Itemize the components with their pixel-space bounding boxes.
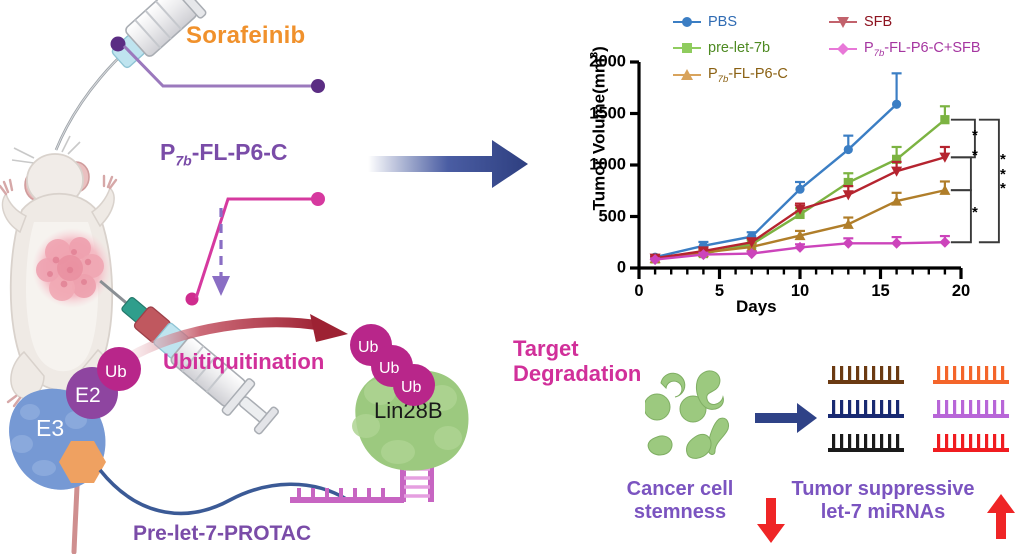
cancer-stemness-line2: stemness	[605, 501, 755, 524]
y-tick-label: 2000	[589, 53, 626, 72]
x-tick-label: 5	[715, 282, 724, 301]
label-pre-let-7-protac: Pre-let-7-PROTAC	[133, 522, 311, 546]
protac-linker	[100, 470, 348, 513]
label-ubiquitination: Ubitiquitination	[163, 349, 324, 375]
x-tick-label: 15	[871, 282, 889, 301]
tumor-suppressive-line2: let-7 miRNAs	[778, 501, 988, 524]
tumor-suppressive-line1: Tumor suppressive	[778, 478, 988, 501]
e3-label: E3	[36, 415, 64, 441]
strand-violet	[933, 400, 1009, 418]
e2-label: E2	[75, 384, 101, 407]
y-tick-label: 1500	[589, 104, 626, 123]
sig-bracket	[951, 157, 971, 190]
degradation-products	[645, 355, 825, 465]
label-target-degradation: Target Degradation	[513, 337, 641, 386]
y-tick-label: 0	[617, 259, 626, 278]
data-point	[843, 219, 854, 229]
dot-sorafeinib-source	[111, 37, 126, 52]
svg-text:Ub: Ub	[401, 379, 422, 396]
label-tumor-suppressive: Tumor suppressive let-7 miRNAs	[778, 478, 988, 524]
data-point	[939, 185, 950, 195]
ub-label: Ub	[105, 362, 127, 381]
data-point	[939, 237, 950, 248]
lin28b-protein: Lin28B Ub Ub Ub	[350, 324, 469, 471]
series-line	[655, 104, 897, 257]
strand-brown	[828, 366, 904, 384]
strand-black	[828, 434, 904, 452]
x-tick-label: 0	[634, 282, 643, 301]
sig-bracket-1: *	[972, 129, 978, 143]
data-point	[891, 167, 902, 177]
sig-bracket-4: *	[972, 206, 978, 220]
data-point	[940, 115, 949, 124]
y-tick-label: 1000	[589, 156, 626, 175]
target-degradation-line1: Target	[513, 337, 641, 362]
strand-navy	[828, 400, 904, 418]
label-cancer-cell-stemness: Cancer cell stemness	[605, 478, 755, 524]
sig-bracket-2: *	[972, 149, 978, 163]
tumor-volume-chart: PBSSFBpre-let-7bP7b-FL-P6-C+SFBP7b-FL-P6…	[560, 0, 1024, 320]
series-p7b-fl-p6-c-sfb	[650, 236, 951, 265]
label-p7b-fl-p6-c: P7b-FL-P6-C	[160, 139, 288, 169]
label-sorafeinib: Sorafeinib	[186, 22, 305, 50]
rna-duplex-bottom	[290, 488, 404, 503]
strand-orange	[933, 366, 1009, 384]
schematic-artwork: E3 E2 Ub	[0, 0, 560, 554]
x-tick-label: 20	[952, 282, 970, 301]
series-pbs	[650, 73, 902, 261]
strand-red	[933, 434, 1009, 452]
up-arrow-icon	[986, 494, 1016, 540]
sig-bracket-3: ***	[1000, 153, 1006, 196]
data-point	[844, 145, 853, 154]
x-tick-label: 10	[791, 282, 809, 301]
chart-plot-area	[560, 0, 1024, 320]
cancer-stemness-line1: Cancer cell	[605, 478, 755, 501]
degradation-arrow-icon	[755, 403, 817, 433]
sig-bracket	[979, 120, 999, 243]
target-degradation-line2: Degradation	[513, 362, 641, 387]
data-point	[795, 185, 804, 194]
data-point	[892, 100, 901, 109]
figure-canvas: E3 E2 Ub	[0, 0, 1024, 554]
y-tick-label: 500	[598, 207, 626, 226]
mirna-strands	[828, 358, 1018, 458]
sig-bracket	[951, 190, 971, 242]
big-blue-arrow-icon	[368, 130, 568, 200]
data-point	[891, 238, 902, 249]
tumor-icon	[32, 228, 112, 308]
